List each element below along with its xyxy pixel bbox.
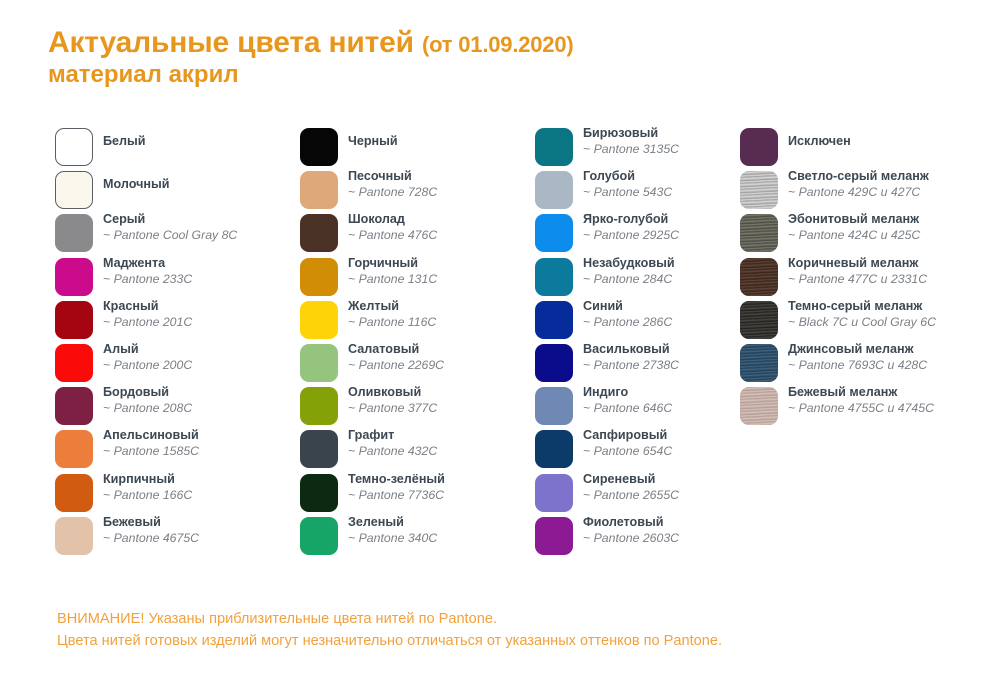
- color-swatch[interactable]: [535, 344, 573, 382]
- color-pantone-code: ~ Pantone 654C: [583, 443, 783, 459]
- color-row[interactable]: Зеленый~ Pantone 340C: [300, 515, 535, 558]
- color-swatch[interactable]: [300, 387, 338, 425]
- page-title-date: (от 01.09.2020): [422, 32, 574, 57]
- color-swatch[interactable]: [740, 171, 778, 209]
- color-row[interactable]: Бирюзовый~ Pantone 3135C: [535, 126, 735, 169]
- color-row-text: Зеленый~ Pantone 340C: [348, 514, 548, 546]
- color-name: Эбонитовый меланж: [788, 211, 998, 227]
- color-row-text: Серый~ Pantone Cool Gray 8C: [103, 211, 303, 243]
- color-name: Апельсиновый: [103, 427, 303, 443]
- color-row[interactable]: Алый~ Pantone 200C: [55, 342, 295, 385]
- color-row[interactable]: Желтый~ Pantone 116C: [300, 299, 535, 342]
- color-row[interactable]: Эбонитовый меланж~ Pantone 424C и 425C: [740, 212, 990, 255]
- color-pantone-code: ~ Pantone 201C: [103, 314, 303, 330]
- color-swatch[interactable]: [300, 344, 338, 382]
- color-row-text: Маджента~ Pantone 233C: [103, 255, 303, 287]
- color-swatch[interactable]: [55, 517, 93, 555]
- color-row[interactable]: Темно-зелёный~ Pantone 7736C: [300, 472, 535, 515]
- color-pantone-code: ~ Pantone 2655C: [583, 487, 783, 503]
- color-name: Коричневый меланж: [788, 255, 998, 271]
- color-name: Белый: [103, 133, 303, 149]
- color-row-text: Шоколад~ Pantone 476C: [348, 211, 548, 243]
- color-row[interactable]: Исключен: [740, 126, 990, 169]
- color-row-text: Светло-серый меланж~ Pantone 429C и 427C: [788, 168, 998, 200]
- footer-notice: ВНИМАНИЕ! Указаны приблизительные цвета …: [57, 608, 957, 651]
- color-name: Темно-зелёный: [348, 471, 548, 487]
- color-row[interactable]: Сапфировый~ Pantone 654C: [535, 428, 735, 471]
- melange-texture: [740, 344, 778, 382]
- color-name: Желтый: [348, 298, 548, 314]
- color-row-text: Черный: [348, 133, 548, 149]
- color-pantone-code: ~ Pantone 166C: [103, 487, 303, 503]
- color-name: Бежевый меланж: [788, 384, 998, 400]
- color-row[interactable]: Молочный: [55, 169, 295, 212]
- color-pantone-code: ~ Pantone 4675C: [103, 530, 303, 546]
- color-row-text: Исключен: [788, 133, 998, 149]
- melange-texture: [740, 214, 778, 252]
- color-pantone-code: ~ Pantone 1585C: [103, 443, 303, 459]
- footer-line-1: ВНИМАНИЕ! Указаны приблизительные цвета …: [57, 608, 921, 630]
- page-title: Актуальные цвета нитей (от 01.09.2020): [48, 26, 948, 60]
- color-swatch[interactable]: [535, 430, 573, 468]
- color-row-text: Джинсовый меланж~ Pantone 7693C и 428C: [788, 341, 998, 373]
- color-row[interactable]: Фиолетовый~ Pantone 2603C: [535, 515, 735, 558]
- color-row-text: Сиреневый~ Pantone 2655C: [583, 471, 783, 503]
- color-pantone-code: ~ Pantone 200C: [103, 357, 303, 373]
- color-name: Светло-серый меланж: [788, 168, 998, 184]
- color-pantone-code: ~ Pantone Cool Gray 8C: [103, 227, 303, 243]
- color-swatch[interactable]: [55, 214, 93, 252]
- color-swatch[interactable]: [300, 171, 338, 209]
- color-row[interactable]: Ярко-голубой~ Pantone 2925C: [535, 212, 735, 255]
- color-name: Черный: [348, 133, 548, 149]
- color-swatch[interactable]: [300, 214, 338, 252]
- color-row[interactable]: Синий~ Pantone 286C: [535, 299, 735, 342]
- color-row[interactable]: Бежевый~ Pantone 4675C: [55, 515, 295, 558]
- color-row[interactable]: Красный~ Pantone 201C: [55, 299, 295, 342]
- color-name: Салатовый: [348, 341, 548, 357]
- color-row-text: Сапфировый~ Pantone 654C: [583, 427, 783, 459]
- color-name: Сиреневый: [583, 471, 783, 487]
- color-name: Зеленый: [348, 514, 548, 530]
- color-pantone-code: ~ Pantone 7693C и 428C: [788, 357, 998, 373]
- color-swatch[interactable]: [55, 344, 93, 382]
- melange-texture: [740, 301, 778, 339]
- color-row[interactable]: Салатовый~ Pantone 2269C: [300, 342, 535, 385]
- color-row[interactable]: Песочный~ Pantone 728C: [300, 169, 535, 212]
- color-row-text: Алый~ Pantone 200C: [103, 341, 303, 373]
- color-name: Джинсовый меланж: [788, 341, 998, 357]
- color-swatch[interactable]: [740, 301, 778, 339]
- color-column-4: ИсключенСветло-серый меланж~ Pantone 429…: [740, 126, 990, 428]
- color-pantone-code: ~ Pantone 2269C: [348, 357, 548, 373]
- color-name: Кирпичный: [103, 471, 303, 487]
- color-row[interactable]: Бордовый~ Pantone 208C: [55, 385, 295, 428]
- color-row-text: Белый: [103, 133, 303, 149]
- page-subtitle: материал акрил: [48, 61, 948, 89]
- color-row[interactable]: Незабудковый~ Pantone 284C: [535, 256, 735, 299]
- color-row-text: Кирпичный~ Pantone 166C: [103, 471, 303, 503]
- color-row-text: Бежевый меланж~ Pantone 4755C и 4745C: [788, 384, 998, 416]
- color-row-text: Песочный~ Pantone 728C: [348, 168, 548, 200]
- color-swatch[interactable]: [55, 301, 93, 339]
- color-row[interactable]: Белый: [55, 126, 295, 169]
- color-swatch[interactable]: [535, 517, 573, 555]
- footer-line-2: Цвета нитей готовых изделий могут незнач…: [57, 630, 921, 652]
- color-row[interactable]: Джинсовый меланж~ Pantone 7693C и 428C: [740, 342, 990, 385]
- color-swatch[interactable]: [55, 258, 93, 296]
- color-row-text: Фиолетовый~ Pantone 2603C: [583, 514, 783, 546]
- color-swatch[interactable]: [740, 214, 778, 252]
- color-swatch[interactable]: [300, 430, 338, 468]
- melange-texture: [740, 171, 778, 209]
- color-name: Маджента: [103, 255, 303, 271]
- color-row[interactable]: Голубой~ Pantone 543C: [535, 169, 735, 212]
- color-row[interactable]: Шоколад~ Pantone 476C: [300, 212, 535, 255]
- color-swatch[interactable]: [55, 387, 93, 425]
- color-name: Серый: [103, 211, 303, 227]
- color-swatch[interactable]: [535, 301, 573, 339]
- color-row[interactable]: Сиреневый~ Pantone 2655C: [535, 472, 735, 515]
- color-name: Молочный: [103, 176, 303, 192]
- color-name: Алый: [103, 341, 303, 357]
- color-row[interactable]: Индиго~ Pantone 646C: [535, 385, 735, 428]
- color-name: Графит: [348, 427, 548, 443]
- color-row-text: Горчичный~ Pantone 131C: [348, 255, 548, 287]
- color-swatch[interactable]: [55, 430, 93, 468]
- color-pantone-code: ~ Pantone 377C: [348, 400, 548, 416]
- color-row[interactable]: Васильковый~ Pantone 2738C: [535, 342, 735, 385]
- color-row[interactable]: Маджента~ Pantone 233C: [55, 256, 295, 299]
- color-swatch[interactable]: [740, 128, 778, 166]
- color-row-text: Апельсиновый~ Pantone 1585C: [103, 427, 303, 459]
- color-row[interactable]: Темно-серый меланж~ Black 7C и Cool Gray…: [740, 299, 990, 342]
- color-swatch[interactable]: [300, 258, 338, 296]
- color-pantone-code: ~ Pantone 2603C: [583, 530, 783, 546]
- color-column-1: БелыйМолочныйСерый~ Pantone Cool Gray 8C…: [55, 126, 295, 558]
- color-name: Красный: [103, 298, 303, 314]
- color-row[interactable]: Апельсиновый~ Pantone 1585C: [55, 428, 295, 471]
- color-row[interactable]: Светло-серый меланж~ Pantone 429C и 427C: [740, 169, 990, 212]
- color-swatch[interactable]: [55, 128, 93, 166]
- page-title-main: Актуальные цвета нитей: [48, 26, 414, 59]
- color-name: Сапфировый: [583, 427, 783, 443]
- color-swatch[interactable]: [300, 301, 338, 339]
- color-swatch-grid: БелыйМолочныйСерый~ Pantone Cool Gray 8C…: [0, 126, 1000, 576]
- color-row-text: Оливковый~ Pantone 377C: [348, 384, 548, 416]
- color-pantone-code: ~ Pantone 340C: [348, 530, 548, 546]
- color-swatch[interactable]: [300, 517, 338, 555]
- color-name: Шоколад: [348, 211, 548, 227]
- color-swatch[interactable]: [535, 387, 573, 425]
- color-pantone-code: ~ Pantone 424C и 425C: [788, 227, 998, 243]
- color-row[interactable]: Горчичный~ Pantone 131C: [300, 256, 535, 299]
- color-swatch[interactable]: [55, 171, 93, 209]
- color-swatch[interactable]: [740, 387, 778, 425]
- color-pantone-code: ~ Pantone 429C и 427C: [788, 184, 998, 200]
- color-pantone-code: ~ Pantone 728C: [348, 184, 548, 200]
- color-row-text: Коричневый меланж~ Pantone 477C и 2331C: [788, 255, 998, 287]
- color-row-text: Темно-зелёный~ Pantone 7736C: [348, 471, 548, 503]
- melange-texture: [740, 258, 778, 296]
- color-swatch[interactable]: [535, 258, 573, 296]
- color-name: Исключен: [788, 133, 998, 149]
- color-row-text: Бежевый~ Pantone 4675C: [103, 514, 303, 546]
- color-swatch[interactable]: [740, 258, 778, 296]
- melange-texture: [740, 387, 778, 425]
- color-swatch[interactable]: [535, 214, 573, 252]
- color-pantone-code: ~ Pantone 432C: [348, 443, 548, 459]
- color-name: Песочный: [348, 168, 548, 184]
- color-row[interactable]: Бежевый меланж~ Pantone 4755C и 4745C: [740, 385, 990, 428]
- color-pantone-code: ~ Pantone 208C: [103, 400, 303, 416]
- color-swatch[interactable]: [535, 474, 573, 512]
- color-name: Бордовый: [103, 384, 303, 400]
- color-column-2: ЧерныйПесочный~ Pantone 728CШоколад~ Pan…: [300, 126, 535, 558]
- color-row[interactable]: Кирпичный~ Pantone 166C: [55, 472, 295, 515]
- color-row-text: Салатовый~ Pantone 2269C: [348, 341, 548, 373]
- color-row[interactable]: Коричневый меланж~ Pantone 477C и 2331C: [740, 256, 990, 299]
- color-swatch[interactable]: [300, 474, 338, 512]
- color-swatch[interactable]: [535, 171, 573, 209]
- color-pantone-code: ~ Pantone 477C и 2331C: [788, 271, 998, 287]
- color-row-text: Эбонитовый меланж~ Pantone 424C и 425C: [788, 211, 998, 243]
- color-name: Горчичный: [348, 255, 548, 271]
- page-header: Актуальные цвета нитей (от 01.09.2020) м…: [48, 26, 948, 89]
- color-name: Бежевый: [103, 514, 303, 530]
- color-name: Фиолетовый: [583, 514, 783, 530]
- color-row[interactable]: Графит~ Pantone 432C: [300, 428, 535, 471]
- color-swatch[interactable]: [55, 474, 93, 512]
- color-row-text: Темно-серый меланж~ Black 7C и Cool Gray…: [788, 298, 998, 330]
- color-pantone-code: ~ Pantone 233C: [103, 271, 303, 287]
- color-pantone-code: ~ Pantone 7736C: [348, 487, 548, 503]
- color-column-3: Бирюзовый~ Pantone 3135CГолубой~ Pantone…: [535, 126, 735, 558]
- color-row[interactable]: Оливковый~ Pantone 377C: [300, 385, 535, 428]
- color-swatch[interactable]: [535, 128, 573, 166]
- color-pantone-code: ~ Pantone 4755C и 4745C: [788, 400, 998, 416]
- color-pantone-code: ~ Pantone 131C: [348, 271, 548, 287]
- color-name: Оливковый: [348, 384, 548, 400]
- color-swatch[interactable]: [300, 128, 338, 166]
- color-row-text: Желтый~ Pantone 116C: [348, 298, 548, 330]
- color-name: Темно-серый меланж: [788, 298, 998, 314]
- color-row-text: Молочный: [103, 176, 303, 192]
- color-row-text: Красный~ Pantone 201C: [103, 298, 303, 330]
- color-row-text: Бордовый~ Pantone 208C: [103, 384, 303, 416]
- color-row[interactable]: Серый~ Pantone Cool Gray 8C: [55, 212, 295, 255]
- color-row-text: Графит~ Pantone 432C: [348, 427, 548, 459]
- color-row[interactable]: Черный: [300, 126, 535, 169]
- color-pantone-code: ~ Pantone 476C: [348, 227, 548, 243]
- color-pantone-code: ~ Black 7C и Cool Gray 6C: [788, 314, 998, 330]
- color-swatch[interactable]: [740, 344, 778, 382]
- color-pantone-code: ~ Pantone 116C: [348, 314, 548, 330]
